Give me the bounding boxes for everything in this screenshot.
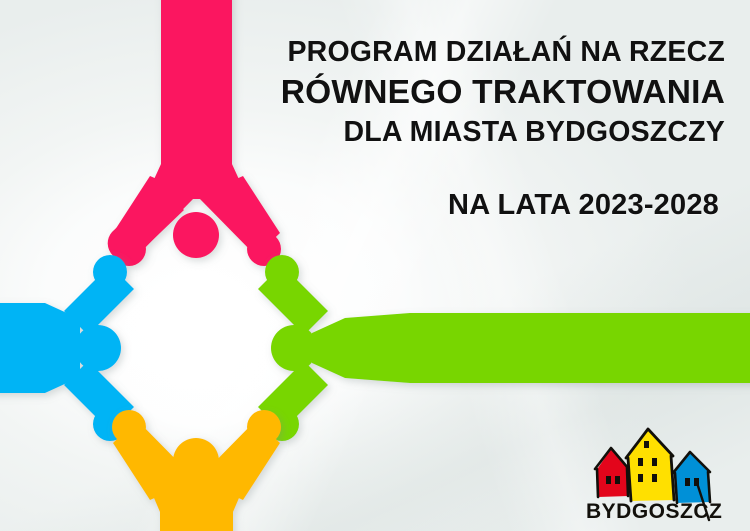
title-years-line: NA LATA 2023-2028 <box>275 191 725 220</box>
pink-figure <box>105 0 288 273</box>
yellow-house-icon <box>626 429 675 501</box>
red-house-icon <box>595 448 629 497</box>
bydgoszcz-logo: BYDGOSZCZ <box>578 424 733 522</box>
blue-house-icon <box>673 452 711 503</box>
title-line-2: RÓWNEGO TRAKTOWANIA <box>275 76 725 110</box>
title-block: PROGRAM DZIAŁAŃ NA RZECZ RÓWNEGO TRAKTOW… <box>275 38 725 220</box>
bydgoszcz-wordmark: BYDGOSZCZ <box>586 500 722 522</box>
pink-figure-head <box>173 212 219 258</box>
poster-canvas: PROGRAM DZIAŁAŃ NA RZECZ RÓWNEGO TRAKTOW… <box>0 0 750 531</box>
blue-figure <box>0 248 134 448</box>
green-figure <box>258 248 750 448</box>
green-figure-head <box>271 325 317 371</box>
yellow-figure-head <box>173 438 219 484</box>
blue-figure-head <box>75 325 121 371</box>
bydgoszcz-logo-svg: BYDGOSZCZ <box>578 424 733 522</box>
title-line-3: DLA MIASTA BYDGOSZCZY <box>275 118 725 147</box>
title-line-1: PROGRAM DZIAŁAŃ NA RZECZ <box>275 38 725 67</box>
